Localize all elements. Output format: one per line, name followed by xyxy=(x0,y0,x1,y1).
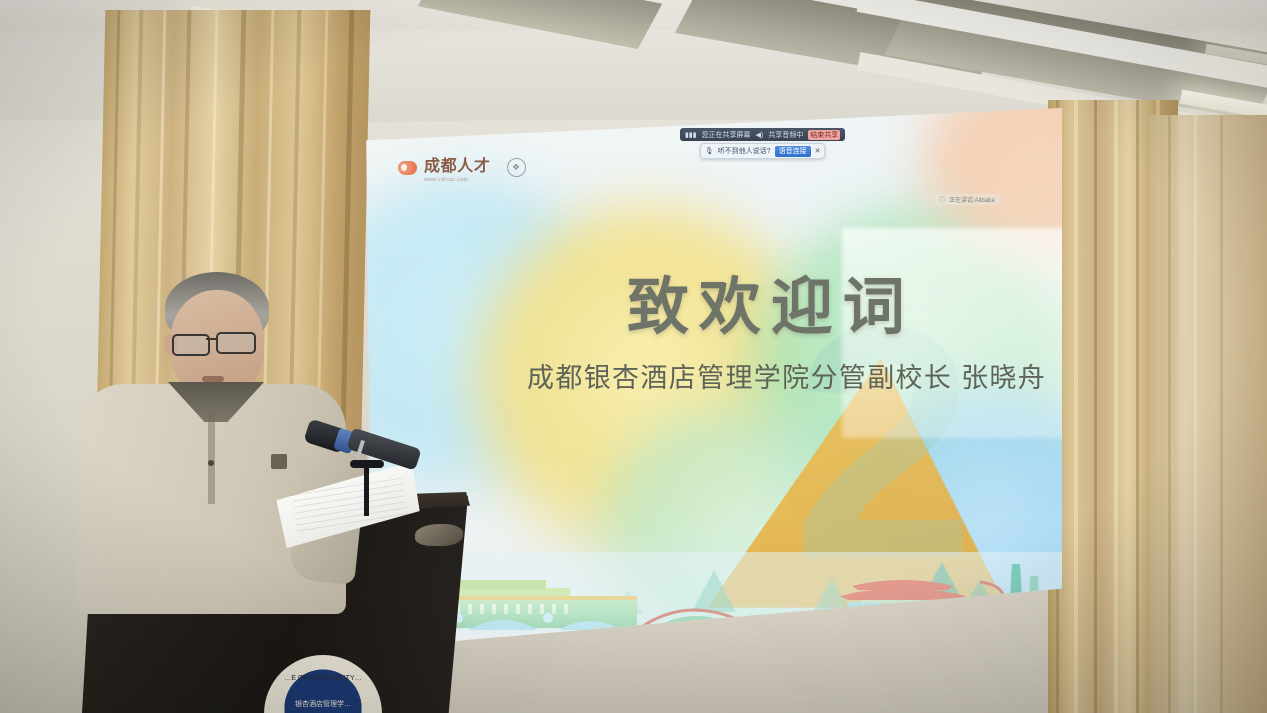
shirt-logo-patch xyxy=(271,454,287,469)
glasses-lens-left xyxy=(172,334,210,356)
slide-subtitle: 成都银杏酒店管理学院分管副校长 张晓舟 xyxy=(527,356,1046,395)
share-status-bar: ▮▮▮ 您正在共享屏幕 ◀) 共享音频中 结束共享 xyxy=(680,128,845,141)
microphone-icon: 🎙 xyxy=(705,147,714,155)
brand-mark-icon xyxy=(398,161,417,175)
stop-share-button[interactable]: 结束共享 xyxy=(808,130,840,140)
brand-name: 成都人才 xyxy=(424,152,491,176)
shirt-button xyxy=(208,460,214,466)
active-speaker-text: 正在讲话:Alibaba xyxy=(949,195,995,204)
conference-room: 2 致欢迎词 成都银杏酒店管理学院分管副校长 张晓舟 xyxy=(0,0,1267,713)
audio-prompt-bar[interactable]: 🎙 听不到他人说话? 语音连接 ✕ xyxy=(700,143,826,159)
screen-share-toolbar[interactable]: ▮▮▮ 您正在共享屏幕 ◀) 共享音频中 结束共享 🎙 听不到他人说话? 语音连… xyxy=(680,128,845,159)
audio-prompt-text: 听不到他人说话? xyxy=(718,146,771,156)
curtain-far-right xyxy=(1150,115,1267,713)
info-icon: ⓘ xyxy=(939,195,945,204)
podium-emblem-line2: 银杏酒店管理学… xyxy=(295,699,351,709)
signal-bars-icon: ▮▮▮ xyxy=(685,131,697,139)
speaker-glasses xyxy=(168,332,266,354)
slide-canvas: 2 致欢迎词 成都银杏酒店管理学院分管副校长 张晓舟 xyxy=(362,108,1062,648)
microphone xyxy=(300,412,420,522)
glasses-bridge xyxy=(206,338,218,340)
projection-screen: 2 致欢迎词 成都银杏酒店管理学院分管副校长 张晓舟 xyxy=(362,108,1062,648)
join-audio-button[interactable]: 语音连接 xyxy=(775,146,811,157)
mic-mount xyxy=(350,460,384,468)
partner-seal-icon: ❖ xyxy=(507,158,526,177)
slide-title: 致欢迎词 xyxy=(627,256,915,346)
share-audio-text: 共享音频中 xyxy=(768,130,803,140)
slide-brand-logo: 成都人才 www.cdrcsc.com ❖ xyxy=(398,152,526,183)
mic-stem xyxy=(364,464,369,516)
glasses-lens-right xyxy=(216,332,256,354)
brand-url: www.cdrcsc.com xyxy=(424,177,491,183)
speaker-icon: ◀) xyxy=(756,131,764,139)
active-speaker-toast: ⓘ 正在讲话:Alibaba xyxy=(934,194,1000,205)
share-status-text: 您正在共享屏幕 xyxy=(702,130,751,140)
podium-emblem-line1: …E OF HOSPITALITY… xyxy=(284,675,361,682)
screenshot-root: 2 致欢迎词 成都银杏酒店管理学院分管副校长 张晓舟 xyxy=(0,0,1267,713)
podium-scuff-2 xyxy=(415,524,463,546)
close-icon[interactable]: ✕ xyxy=(815,147,821,155)
speaker-mouth xyxy=(202,376,224,382)
shirt-placket xyxy=(208,412,215,504)
